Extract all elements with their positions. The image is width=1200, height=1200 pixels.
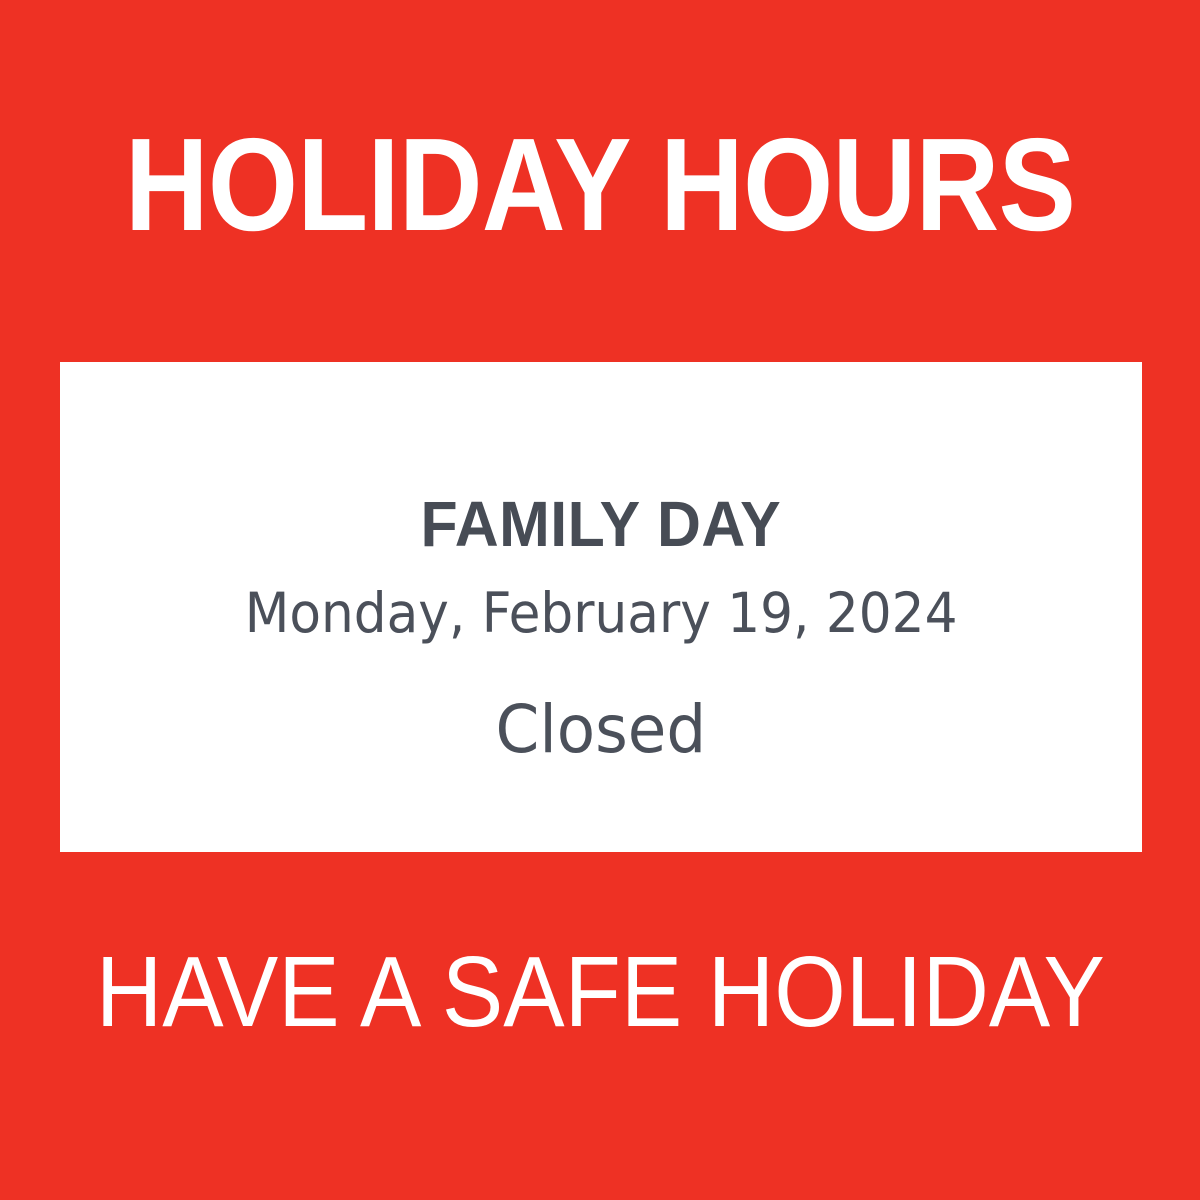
holiday-date: Monday, February 19, 2024 <box>245 586 958 641</box>
holiday-hours-poster: HOLIDAY HOURS FAMILY DAY Monday, Februar… <box>0 0 1200 1200</box>
page-title: HOLIDAY HOURS <box>125 119 1075 251</box>
status-badge: Closed <box>496 697 707 763</box>
holiday-info-card: FAMILY DAY Monday, February 19, 2024 Clo… <box>60 362 1142 852</box>
holiday-name: FAMILY DAY <box>421 492 782 556</box>
footer-banner: HAVE A SAFE HOLIDAY <box>0 852 1200 1200</box>
header-banner: HOLIDAY HOURS <box>0 0 1200 362</box>
footer-message: HAVE A SAFE HOLIDAY <box>96 942 1105 1042</box>
